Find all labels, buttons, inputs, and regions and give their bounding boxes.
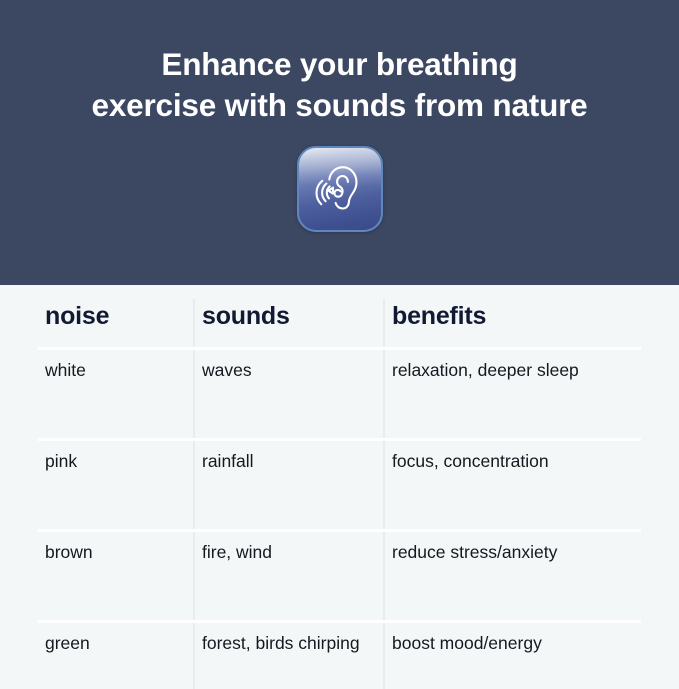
cell-benefits: reduce stress/anxiety <box>384 531 641 622</box>
table-row: white waves relaxation, deeper sleep <box>38 349 641 440</box>
cell-sounds: waves <box>194 349 384 440</box>
app-icon-container <box>297 146 383 232</box>
table-header-row: noise sounds benefits <box>38 299 641 349</box>
table-row: pink rainfall focus, concentration <box>38 440 641 531</box>
cell-sounds: fire, wind <box>194 531 384 622</box>
ear-sound-waves-icon <box>297 146 383 232</box>
ear-glyph <box>309 158 371 220</box>
cell-benefits: relaxation, deeper sleep <box>384 349 641 440</box>
noise-benefits-table: noise sounds benefits white waves relaxa… <box>38 299 641 689</box>
cell-benefits: focus, concentration <box>384 440 641 531</box>
column-header-benefits: benefits <box>384 299 641 349</box>
cell-noise: brown <box>38 531 194 622</box>
page-title-line-2: exercise with sounds from nature <box>40 85 640 126</box>
page-title: Enhance your breathing exercise with sou… <box>40 44 640 126</box>
benefits-table-area: noise sounds benefits white waves relaxa… <box>0 285 679 679</box>
table-header: noise sounds benefits <box>38 299 641 349</box>
page-title-line-1: Enhance your breathing <box>40 44 640 85</box>
column-header-sounds: sounds <box>194 299 384 349</box>
table-row: brown fire, wind reduce stress/anxiety <box>38 531 641 622</box>
cell-noise: white <box>38 349 194 440</box>
column-header-noise: noise <box>38 299 194 349</box>
table-body: white waves relaxation, deeper sleep pin… <box>38 349 641 689</box>
hero-banner: Enhance your breathing exercise with sou… <box>0 0 679 285</box>
cell-noise: pink <box>38 440 194 531</box>
infographic-page: Enhance your breathing exercise with sou… <box>0 0 679 679</box>
cell-sounds: rainfall <box>194 440 384 531</box>
